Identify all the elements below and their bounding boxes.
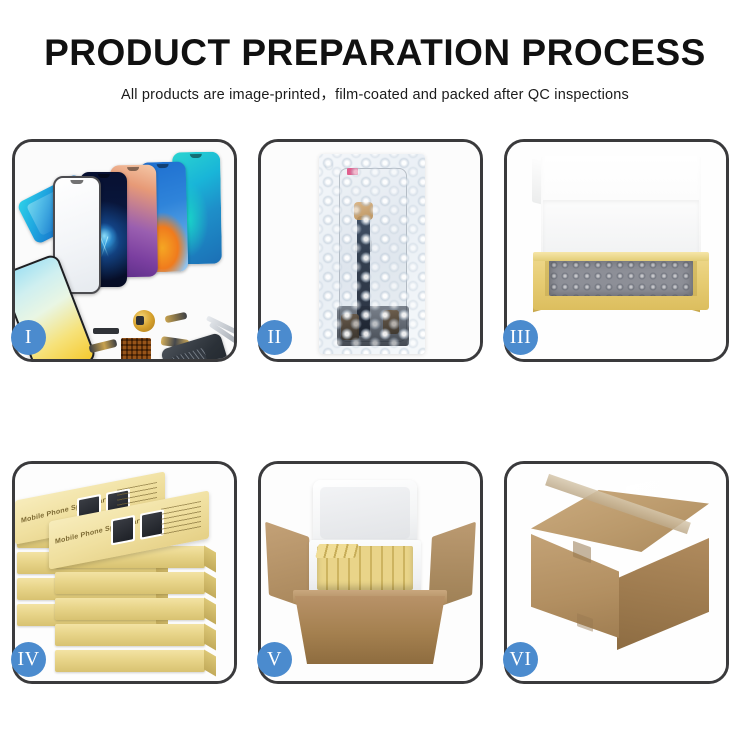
- yellow-boxes-inside-rear: [315, 544, 358, 558]
- process-step-6: VI: [504, 461, 729, 684]
- screw-tray-grid: [121, 338, 151, 359]
- step-badge-1: I: [11, 320, 46, 355]
- process-step-1: I: [12, 139, 237, 362]
- box-label-spec-lines: [161, 501, 201, 537]
- photo-sealed-carton: [507, 464, 726, 681]
- step-badge-3: III: [503, 320, 538, 355]
- process-step-4: Mobile Phone Spare Parts Mobile Phone Sp…: [12, 461, 237, 684]
- page-header: PRODUCT PREPARATION PROCESS All products…: [0, 0, 750, 104]
- step-6-image-frame: [507, 464, 726, 681]
- page-subtitle: All products are image-printed，film-coat…: [0, 73, 750, 104]
- flex-cable-3: [165, 312, 188, 323]
- process-step-2: II: [258, 139, 483, 362]
- grey-bubble-wrapped-contents: [549, 260, 693, 296]
- bubble-texture-overlay: [319, 154, 425, 354]
- step-3-image-frame: [507, 142, 726, 359]
- box-stack: Mobile Phone Spare Parts Mobile Phone Sp…: [15, 480, 234, 680]
- stacked-box: [55, 572, 205, 594]
- step-1-image-frame: [15, 142, 234, 359]
- kraft-tray-front-lip: [533, 252, 709, 261]
- label-phone-image: [111, 515, 135, 546]
- process-step-3: III: [504, 139, 729, 362]
- photo-inner-box-packing: [507, 142, 726, 359]
- step-badge-6: VI: [503, 642, 538, 677]
- carton-body: [295, 596, 445, 664]
- page-title: PRODUCT PREPARATION PROCESS: [0, 0, 750, 73]
- photo-foam-carton-loading: [261, 464, 480, 681]
- process-step-grid: I II: [12, 139, 738, 684]
- photo-bubble-wrapped-screen: [261, 142, 480, 359]
- stacked-box: [55, 624, 205, 646]
- bubble-wrap-bag: [319, 154, 425, 354]
- step-badge-4: IV: [11, 642, 46, 677]
- step-badge-2: II: [257, 320, 292, 355]
- step-5-image-frame: [261, 464, 480, 681]
- photo-product-components: [15, 142, 234, 359]
- flex-cable-1: [88, 339, 117, 354]
- process-step-5: V: [258, 461, 483, 684]
- photo-boxes-stacked: Mobile Phone Spare Parts Mobile Phone Sp…: [15, 464, 234, 681]
- stacked-box: [55, 650, 205, 672]
- foam-case-lid: [313, 480, 417, 546]
- box-label-phone-images: [111, 509, 165, 545]
- stacked-box: [55, 598, 205, 620]
- earpiece-speaker-mesh: [93, 328, 119, 334]
- step-4-image-frame: Mobile Phone Spare Parts Mobile Phone Sp…: [15, 464, 234, 681]
- step-2-image-frame: [261, 142, 480, 359]
- carton-side-face: [617, 538, 709, 650]
- step-badge-5: V: [257, 642, 292, 677]
- vibration-motor: [133, 310, 155, 332]
